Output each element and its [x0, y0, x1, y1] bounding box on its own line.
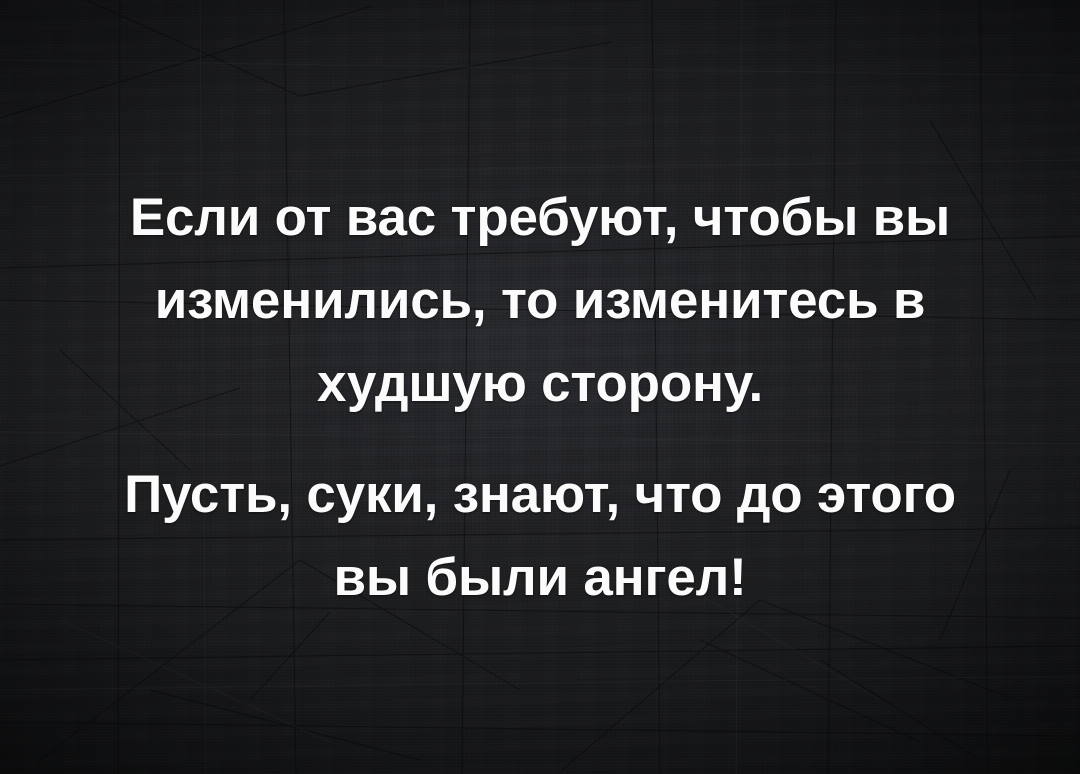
- quote-line-1: Если от вас требуют, чтобы вы: [0, 176, 1080, 259]
- quote-text-block: Если от вас требуют, чтобы вы изменились…: [0, 176, 1080, 619]
- quote-line-4: Пусть, суки, знают, что до этого: [0, 453, 1080, 536]
- quote-line-5: вы были ангел!: [0, 536, 1080, 619]
- quote-line-2: изменились, то изменитесь в: [0, 259, 1080, 342]
- quote-image-canvas: Если от вас требуют, чтобы вы изменились…: [0, 0, 1080, 774]
- quote-line-3: худшую сторону.: [0, 342, 1080, 425]
